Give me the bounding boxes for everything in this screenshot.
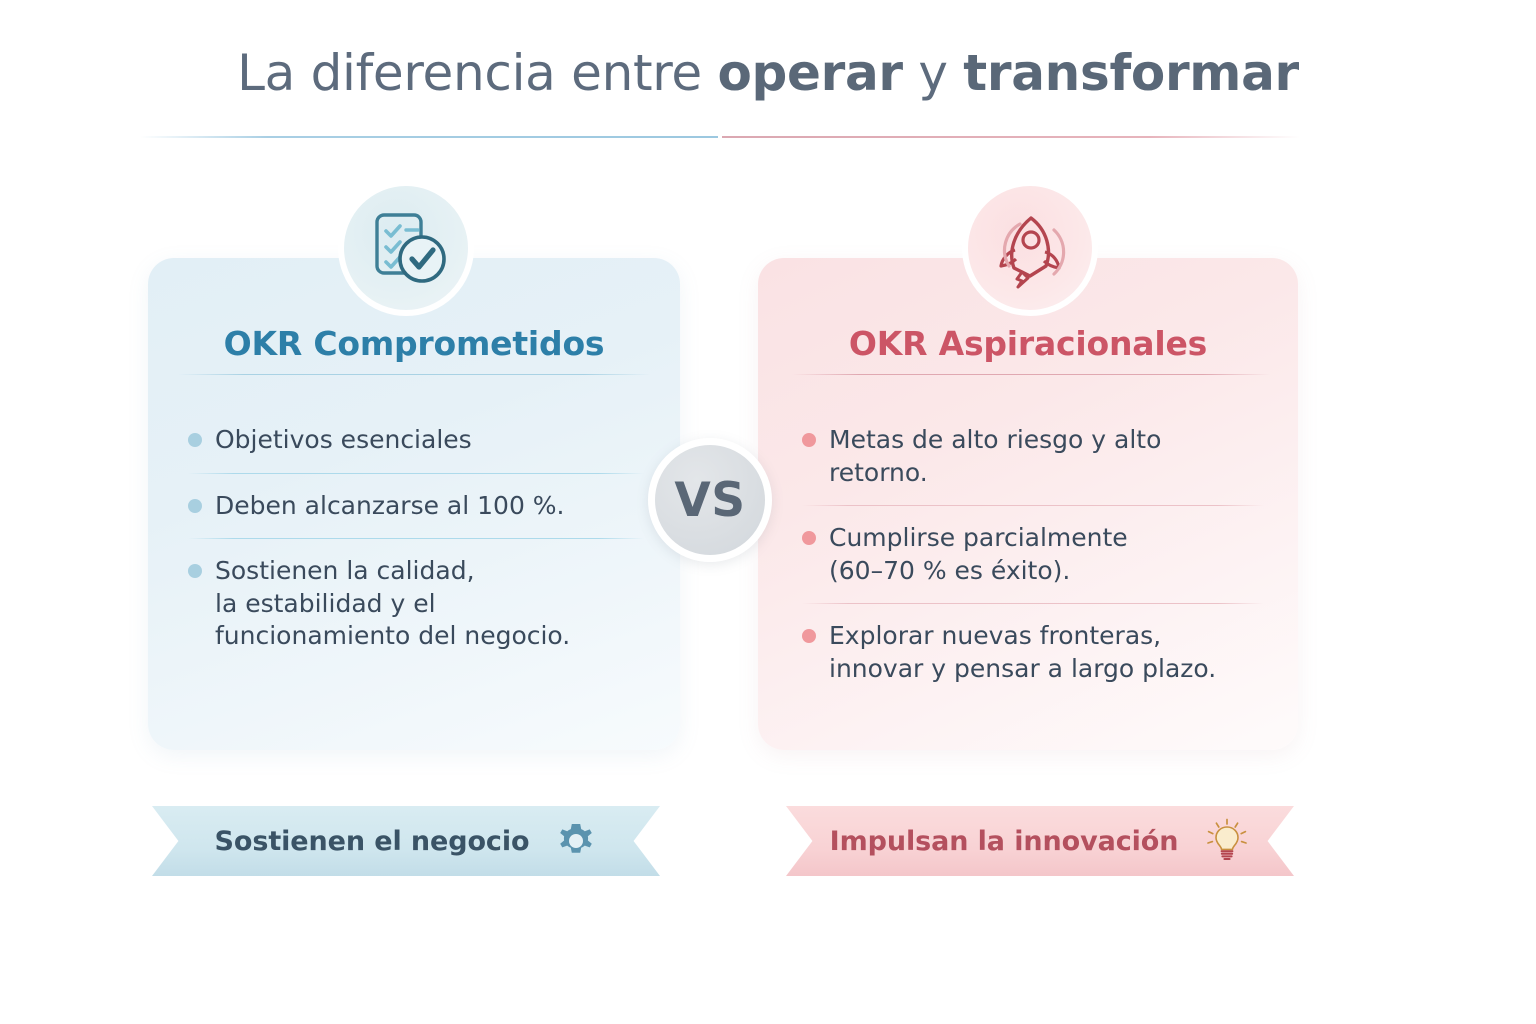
title-segment-bold-operar: operar — [717, 44, 902, 102]
bullet-list-committed: Objetivos esenciales Deben alcanzarse al… — [188, 408, 644, 669]
title-divider-left — [140, 136, 718, 138]
card-heading-aspirational: OKR Aspiracionales — [758, 324, 1298, 363]
title-segment-plain-1: La diferencia entre — [237, 44, 717, 102]
bullet-dot-icon — [188, 499, 202, 513]
card-okr-aspiracionales: OKR Aspiracionales Metas de alto riesgo … — [758, 258, 1298, 750]
bullet-dot-icon — [188, 433, 202, 447]
bullet-text: Cumplirse parcialmente (60–70 % es éxito… — [829, 522, 1128, 587]
title-divider-right — [722, 136, 1300, 138]
title-segment-bold-transformar: transformar — [963, 44, 1299, 102]
ribbon-impulsan-la-innovacion: Impulsan la innovación — [786, 806, 1294, 876]
bullet-dot-icon — [188, 564, 202, 578]
list-item: Cumplirse parcialmente (60–70 % es éxito… — [802, 506, 1264, 603]
card-heading-divider-left — [178, 374, 650, 375]
lightbulb-icon — [1204, 818, 1250, 864]
bullet-text: Metas de alto riesgo y alto retorno. — [829, 424, 1264, 489]
bullet-list-aspirational: Metas de alto riesgo y alto retorno. Cum… — [802, 408, 1264, 701]
vs-badge: VS — [648, 438, 772, 562]
bullet-text: Sostienen la calidad, la estabilidad y e… — [215, 555, 570, 653]
vs-label: VS — [674, 473, 745, 528]
page-title-text: La diferencia entre operar y transformar — [0, 44, 1536, 102]
bullet-dot-icon — [802, 531, 816, 545]
card-heading-committed: OKR Comprometidos — [148, 324, 680, 363]
page-title: La diferencia entre operar y transformar — [0, 44, 1536, 102]
card-okr-comprometidos: OKR Comprometidos Objetivos esenciales D… — [148, 258, 680, 750]
list-item: Explorar nuevas fronteras, innovar y pen… — [802, 604, 1264, 701]
clipboard-check-icon — [338, 180, 474, 316]
list-item: Metas de alto riesgo y alto retorno. — [802, 408, 1264, 505]
ribbon-label: Sostienen el negocio — [215, 826, 530, 857]
rocket-icon — [962, 180, 1098, 316]
bullet-text: Objetivos esenciales — [215, 424, 472, 457]
ribbon-sostienen-el-negocio: Sostienen el negocio — [152, 806, 660, 876]
gear-icon — [555, 820, 597, 862]
list-item: Objetivos esenciales — [188, 408, 644, 473]
bullet-text: Explorar nuevas fronteras, innovar y pen… — [829, 620, 1216, 685]
bullet-dot-icon — [802, 433, 816, 447]
list-item: Deben alcanzarse al 100 %. — [188, 474, 644, 539]
bullet-text: Deben alcanzarse al 100 %. — [215, 490, 565, 523]
ribbon-label: Impulsan la innovación — [830, 826, 1179, 857]
title-segment-plain-2: y — [903, 44, 963, 102]
infographic-canvas: La diferencia entre operar y transformar… — [0, 0, 1536, 1024]
card-heading-divider-right — [792, 374, 1270, 375]
list-item: Sostienen la calidad, la estabilidad y e… — [188, 539, 644, 669]
bullet-dot-icon — [802, 629, 816, 643]
